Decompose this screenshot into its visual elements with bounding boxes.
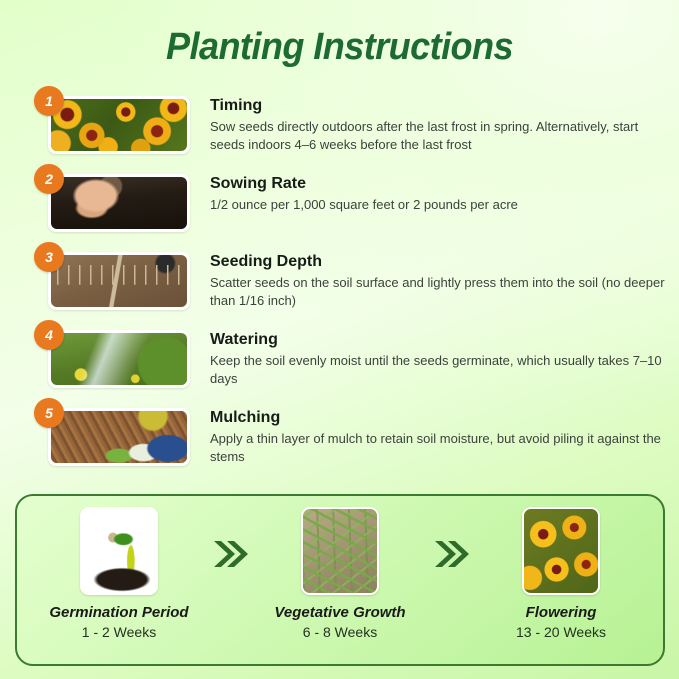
stage-name: Germination Period — [49, 604, 188, 621]
step-title: Sowing Rate — [210, 174, 665, 194]
yellow-flowers-photo — [522, 507, 600, 595]
step-number-badge: 1 — [34, 86, 64, 116]
stage-duration: 1 - 2 Weeks — [82, 624, 156, 640]
double-chevron-right-icon — [428, 537, 474, 571]
step-description: Apply a thin layer of mulch to retain so… — [210, 430, 665, 466]
timeline-stage-germination: Germination Period 1 - 2 Weeks — [35, 507, 203, 640]
step-description: 1/2 ounce per 1,000 square feet or 2 pou… — [210, 196, 665, 214]
list-item: 5 Mulching Apply a thin layer of mulch t… — [0, 404, 679, 482]
step-text: Seeding Depth Scatter seeds on the soil … — [210, 252, 665, 310]
step-thumbnail: 2 — [48, 174, 190, 232]
seedling-sprout-photo — [80, 507, 158, 595]
step-thumbnail: 4 — [48, 330, 190, 388]
step-title: Seeding Depth — [210, 252, 665, 272]
rake-on-soil-photo — [51, 255, 187, 307]
list-item: 4 Watering Keep the soil evenly moist un… — [0, 326, 679, 404]
list-item: 3 Seeding Depth Scatter seeds on the soi… — [0, 248, 679, 326]
step-description: Scatter seeds on the soil surface and li… — [210, 274, 665, 310]
stage-name: Flowering — [526, 604, 597, 621]
step-thumbnail: 1 — [48, 96, 190, 154]
step-text: Timing Sow seeds directly outdoors after… — [210, 96, 665, 154]
steps-list: 1 Timing Sow seeds directly outdoors aft… — [0, 92, 679, 482]
stage-duration: 6 - 8 Weeks — [303, 624, 377, 640]
step-number-badge: 5 — [34, 398, 64, 428]
step-number-badge: 3 — [34, 242, 64, 272]
list-item: 1 Timing Sow seeds directly outdoors aft… — [0, 92, 679, 170]
step-title: Watering — [210, 330, 665, 350]
sprinkler-watering-photo — [51, 333, 187, 385]
hand-sowing-seeds-photo — [51, 177, 187, 229]
timeline-stage-flowering: Flowering 13 - 20 Weeks — [477, 507, 645, 640]
flower-field-photo — [51, 99, 187, 151]
stage-name: Vegetative Growth — [274, 604, 405, 621]
step-text: Sowing Rate 1/2 ounce per 1,000 square f… — [210, 174, 665, 214]
step-number-badge: 2 — [34, 164, 64, 194]
step-title: Timing — [210, 96, 665, 116]
timeline-stage-vegetative: Vegetative Growth 6 - 8 Weeks — [256, 507, 424, 640]
list-item: 2 Sowing Rate 1/2 ounce per 1,000 square… — [0, 170, 679, 248]
step-title: Mulching — [210, 408, 665, 428]
double-chevron-right-icon — [207, 537, 253, 571]
green-foliage-photo — [301, 507, 379, 595]
step-text: Watering Keep the soil evenly moist unti… — [210, 330, 665, 388]
stage-duration: 13 - 20 Weeks — [516, 624, 606, 640]
step-number-badge: 4 — [34, 320, 64, 350]
planting-instructions-infographic: Planting Instructions 1 Timing Sow seeds… — [0, 0, 679, 679]
mulching-hand-photo — [51, 411, 187, 463]
step-text: Mulching Apply a thin layer of mulch to … — [210, 408, 665, 466]
step-thumbnail: 3 — [48, 252, 190, 310]
growth-timeline-card: Germination Period 1 - 2 Weeks Vegetativ… — [15, 494, 665, 666]
step-thumbnail: 5 — [48, 408, 190, 466]
step-description: Keep the soil evenly moist until the see… — [210, 352, 665, 388]
step-description: Sow seeds directly outdoors after the la… — [210, 118, 665, 154]
page-title: Planting Instructions — [17, 26, 662, 69]
